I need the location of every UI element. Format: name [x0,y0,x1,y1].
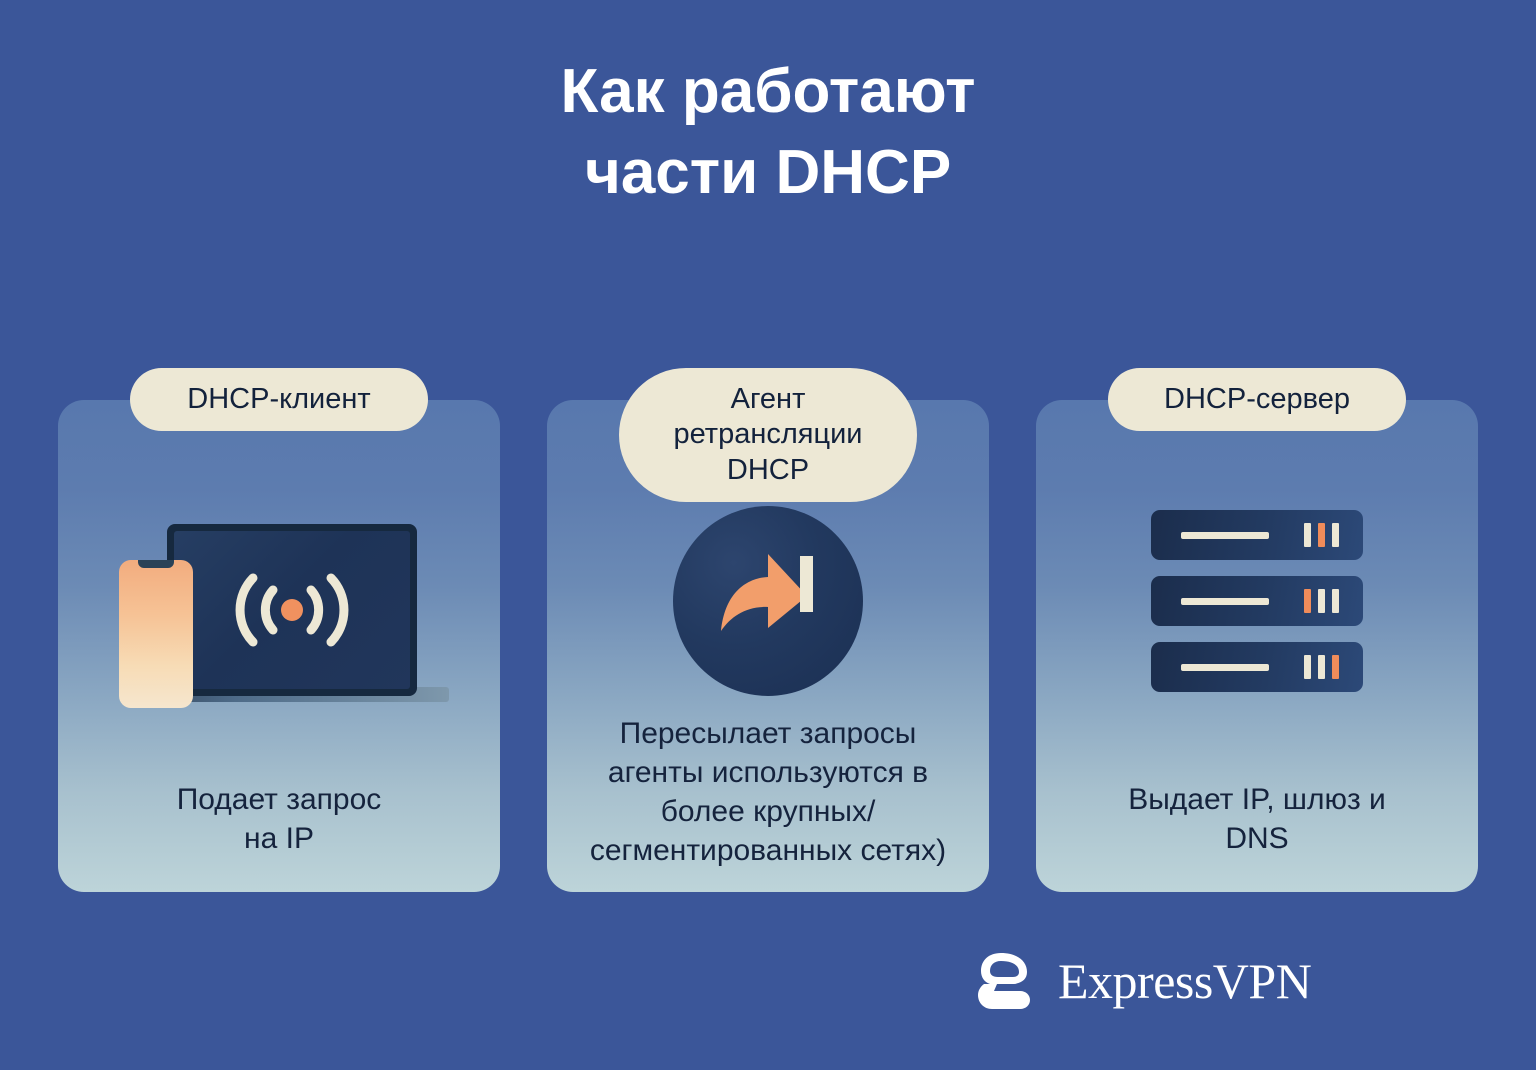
server-rack-icon [1151,510,1363,708]
forward-arrow-circle-icon [673,506,863,696]
expressvpn-logo: ExpressVPN [970,945,1311,1017]
phone-notch [138,560,174,568]
server-led-active [1332,655,1339,679]
laptop-icon [167,524,417,696]
server-rack-leds [1304,523,1339,547]
server-rack-leds [1304,589,1339,613]
card-caption-dhcp-relay-agent: Пересылает запросы агенты используются в… [533,714,1003,870]
card-illustration-dhcp-relay-agent [547,492,989,742]
server-led [1318,655,1325,679]
server-rack-line [1181,532,1269,539]
laptop-screen [174,531,410,689]
server-rack-row [1151,576,1363,626]
server-led [1332,523,1339,547]
page-title: Как работают части DHCP [0,52,1536,213]
server-led [1304,655,1311,679]
server-led [1318,589,1325,613]
server-led [1304,523,1311,547]
wifi-icon [217,562,367,658]
server-rack-line [1181,598,1269,605]
card-badge-dhcp-client: DHCP-клиент [130,368,428,431]
server-rack-row [1151,510,1363,560]
cards-row: DHCP-клиент [58,400,1478,892]
card-badge-dhcp-relay-agent: Агент ретрансляции DHCP [619,368,917,502]
server-rack-leds [1304,655,1339,679]
card-dhcp-server: DHCP-сервер [1036,400,1478,892]
card-dhcp-client: DHCP-клиент [58,400,500,892]
card-caption-dhcp-client: Подает запрос на IP [44,780,514,858]
expressvpn-e-mark-icon [970,945,1042,1017]
smartphone-icon [119,560,193,708]
card-dhcp-relay-agent: Агент ретрансляции DHCP Пересылает запро… [547,400,989,892]
infographic-page: Как работают части DHCP DHCP-клиент [0,0,1536,1070]
card-badge-dhcp-server: DHCP-сервер [1108,368,1406,431]
forward-arrow-icon [673,506,863,696]
server-rack-line [1181,664,1269,671]
card-illustration-dhcp-server [1036,492,1478,742]
server-led-active [1318,523,1325,547]
server-led-active [1304,589,1311,613]
laptop-phone-wifi-icon [109,514,449,714]
server-led [1332,589,1339,613]
brand-name: ExpressVPN [1058,956,1311,1006]
server-rack-row [1151,642,1363,692]
card-caption-dhcp-server: Выдает IP, шлюз и DNS [1022,780,1492,858]
card-illustration-dhcp-client [58,492,500,742]
